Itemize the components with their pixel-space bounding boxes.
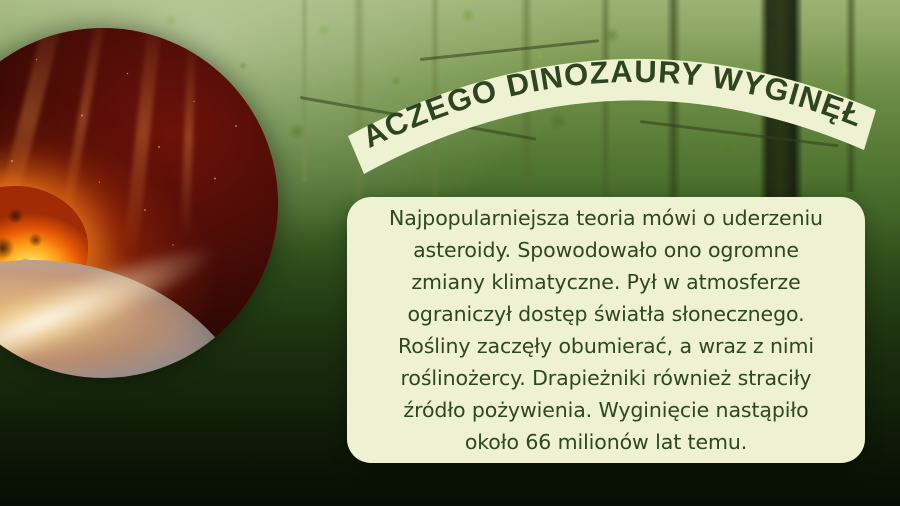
tree-trunk [430, 0, 440, 202]
tree-trunk [845, 0, 857, 192]
tree-trunk [300, 0, 309, 182]
tree-trunk [520, 0, 533, 213]
slide-canvas: DLACZEGO DINOZAURY WYGINĘŁY? Najpopularn… [0, 0, 900, 506]
body-text-card: Najpopularniejsza teoria mówi o uderzeni… [347, 197, 865, 463]
asteroid-impact-image [0, 28, 278, 378]
body-text: Najpopularniejsza teoria mówi o uderzeni… [375, 202, 837, 458]
